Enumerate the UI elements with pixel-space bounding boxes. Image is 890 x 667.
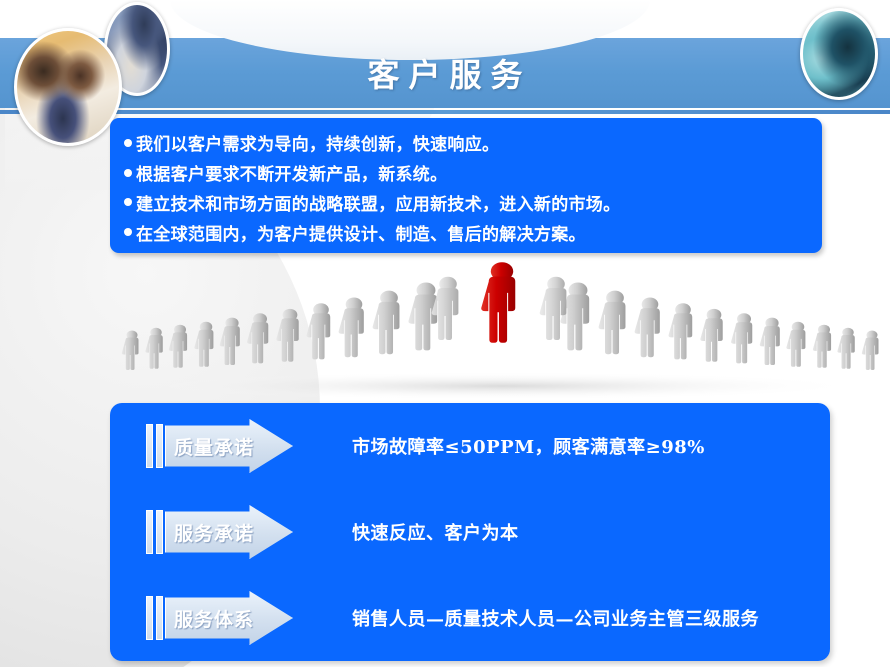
bullet-dot-icon <box>124 169 132 177</box>
arrow-bar-icon <box>146 424 153 468</box>
arrow-shape-icon: 质量承诺 <box>165 419 293 473</box>
arrow-bar-icon <box>156 424 163 468</box>
crowd-of-people-with-leader-graphic <box>118 258 886 403</box>
service-system-arrow[interactable]: 服务体系 <box>146 591 306 645</box>
bullet-points-panel: 我们以客户需求为导向，持续创新，快速响应。 根据客户要求不断开发新产品，新系统。… <box>110 118 822 253</box>
promise-row: 服务承诺 快速反应、客户为本 <box>110 489 830 575</box>
promise-row: 服务体系 销售人员—质量技术人员—公司业务主管三级服务 <box>110 575 830 661</box>
bullet-item: 在全球范围内，为客户提供设计、制造、售后的解决方案。 <box>124 220 808 245</box>
arrow-bar-icon <box>146 510 153 554</box>
bullet-dot-icon <box>124 198 132 206</box>
arrow-bar-icon <box>146 596 153 640</box>
promise-label: 质量承诺 <box>174 433 254 460</box>
promise-row: 质量承诺 市场故障率≤50PPM，顾客满意率≥98% <box>110 403 830 489</box>
banner-underline <box>0 110 890 114</box>
arrow-bar-icon <box>156 596 163 640</box>
arrow-shape-icon: 服务体系 <box>165 591 293 645</box>
bullet-dot-icon <box>124 139 132 147</box>
slide-canvas: 客户服务 我们以客户需求为导向，持续创新，快速响应。 根据客户要求不断开发新产品… <box>0 0 890 667</box>
crowd-svg <box>118 258 886 403</box>
bullet-item: 根据客户要求不断开发新产品，新系统。 <box>124 160 808 185</box>
arrow-shape-icon: 服务承诺 <box>165 505 293 559</box>
bullet-text: 我们以客户需求为导向，持续创新，快速响应。 <box>136 130 499 155</box>
promise-description: 销售人员—质量技术人员—公司业务主管三级服务 <box>352 605 759 631</box>
team-meeting-photo <box>14 28 122 146</box>
bullet-item: 建立技术和市场方面的战略联盟，应用新技术，进入新的市场。 <box>124 190 808 215</box>
promise-description: 市场故障率≤50PPM，顾客满意率≥98% <box>352 433 705 459</box>
bullet-dot-icon <box>124 228 132 236</box>
bullet-item: 我们以客户需求为导向，持续创新，快速响应。 <box>124 130 808 155</box>
promise-label: 服务承诺 <box>174 519 254 546</box>
quality-promise-arrow[interactable]: 质量承诺 <box>146 419 306 473</box>
leader-figure <box>481 262 515 343</box>
bullet-text: 在全球范围内，为客户提供设计、制造、售后的解决方案。 <box>136 220 586 245</box>
arrow-bar-icon <box>156 510 163 554</box>
bullet-text: 根据客户要求不断开发新产品，新系统。 <box>136 160 447 185</box>
promise-description: 快速反应、客户为本 <box>352 519 519 545</box>
business-discussion-photo <box>800 8 878 100</box>
bullet-text: 建立技术和市场方面的战略联盟，应用新技术，进入新的市场。 <box>136 190 620 215</box>
service-promises-panel: 质量承诺 市场故障率≤50PPM，顾客满意率≥98% 服务承诺 快速反应、客户为… <box>110 403 830 661</box>
service-promise-arrow[interactable]: 服务承诺 <box>146 505 306 559</box>
promise-label: 服务体系 <box>174 605 254 632</box>
